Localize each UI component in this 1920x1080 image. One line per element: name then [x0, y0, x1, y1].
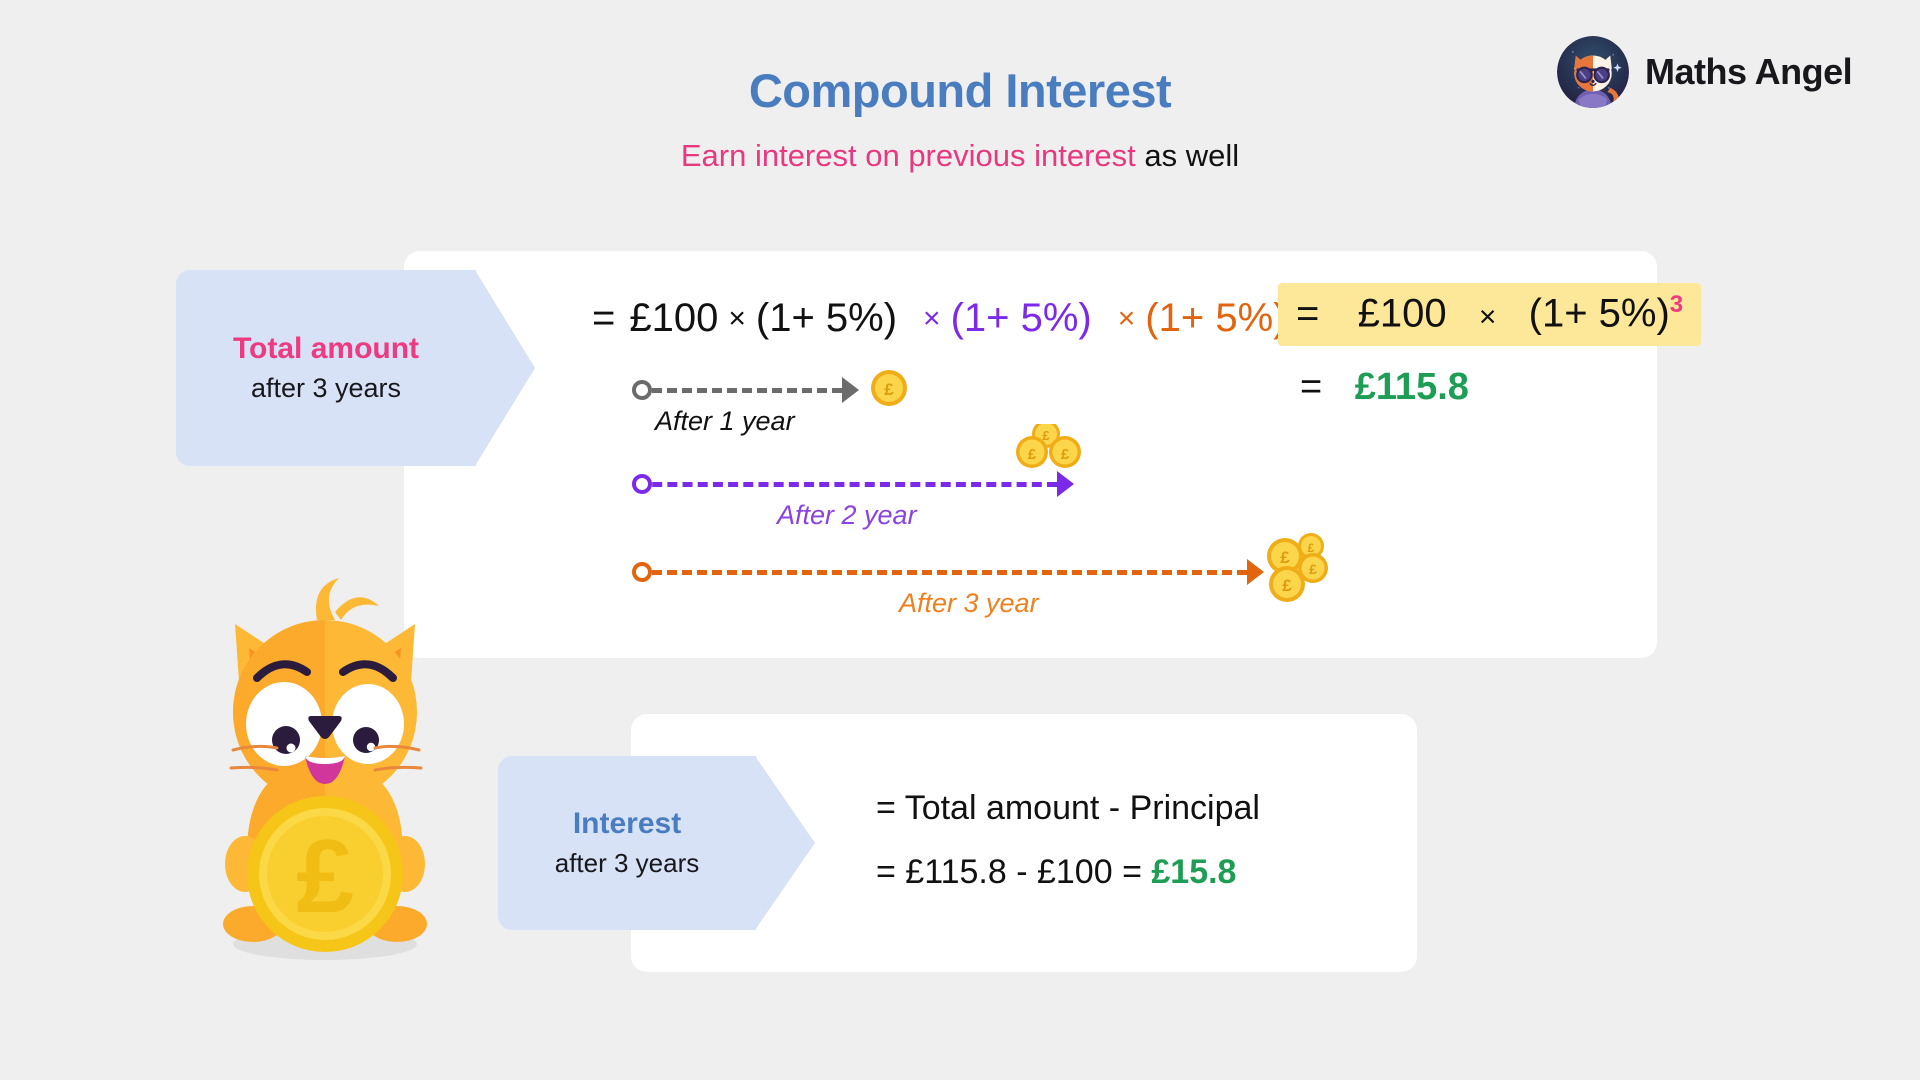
total-amount-banner-subtitle: after 3 years — [251, 373, 401, 404]
svg-text:£: £ — [1280, 548, 1290, 567]
total-result-value: £115.8 — [1355, 366, 1469, 408]
equation-times-1: × — [728, 302, 746, 336]
power-equation-principal: £100 — [1358, 291, 1447, 335]
equation-factor-3: (1+ 5%) — [1145, 296, 1286, 341]
svg-text:£: £ — [1309, 561, 1317, 577]
svg-text:£: £ — [1028, 446, 1037, 463]
compound-interest-expanded-equation: = £100 × (1+ 5%) × (1+ 5%) × (1+ 5%) — [592, 296, 1286, 341]
svg-text:£: £ — [884, 380, 894, 399]
interest-banner-title: Interest — [573, 807, 681, 840]
total-amount-result: = £115.8 — [1300, 366, 1469, 409]
timeline-3-coins: £ £ £ £ — [1259, 532, 1335, 613]
power-equation-exponent: 3 — [1670, 291, 1683, 318]
page-subtitle: Earn interest on previous interest as we… — [0, 138, 1920, 174]
svg-text:£: £ — [296, 819, 354, 935]
power-equation-factor: (1+ 5%) — [1529, 291, 1670, 335]
timeline-2-line — [637, 482, 1057, 487]
equation-factor-1: (1+ 5%) — [756, 296, 897, 341]
timeline-3-label: After 3 year — [899, 588, 1039, 619]
equation-times-3: × — [1118, 302, 1136, 336]
total-amount-banner-title: Total amount — [233, 332, 419, 365]
power-equation-times: × — [1479, 300, 1497, 333]
page-title: Compound Interest — [0, 63, 1920, 118]
svg-text:£: £ — [1042, 428, 1050, 443]
timeline-1-start-dot — [632, 380, 652, 400]
timeline-1-coins: £ — [867, 366, 911, 415]
timeline-1-line — [637, 388, 842, 393]
interest-calculation-prefix: = £115.8 - £100 = — [876, 853, 1151, 891]
interest-banner: Interest after 3 years — [498, 756, 756, 930]
equation-equals: = — [592, 296, 615, 341]
orange-cat-with-pound-coin-icon: £ — [205, 572, 445, 972]
timeline-2-coins: £ £ £ — [1015, 424, 1095, 491]
timeline-3-start-dot — [632, 562, 652, 582]
timeline-1-arrowhead — [842, 377, 859, 403]
compound-interest-power-equation-highlighted: = £100 × (1+ 5%)3 — [1278, 283, 1701, 346]
timeline-2-label: After 2 year — [777, 500, 917, 531]
total-result-equals: = — [1300, 366, 1322, 408]
interest-result-value: £15.8 — [1151, 853, 1236, 891]
interest-formula-line: = Total amount - Principal — [876, 789, 1260, 828]
interest-banner-subtitle: after 3 years — [555, 848, 700, 879]
timeline-1-label: After 1 year — [655, 406, 795, 437]
svg-text:£: £ — [1308, 541, 1315, 555]
svg-text:£: £ — [1061, 446, 1070, 463]
subtitle-rest: as well — [1136, 138, 1239, 173]
total-amount-banner: Total amount after 3 years — [176, 270, 476, 466]
power-equation-equals: = — [1296, 291, 1319, 335]
timeline-3-line — [637, 570, 1247, 575]
timeline-2-start-dot — [632, 474, 652, 494]
svg-text:£: £ — [1282, 576, 1292, 595]
interest-calculation-line: = £115.8 - £100 = £15.8 — [876, 853, 1236, 892]
equation-principal: £100 — [629, 296, 718, 341]
equation-times-2: × — [923, 302, 941, 336]
equation-factor-2: (1+ 5%) — [951, 296, 1092, 341]
subtitle-highlight: Earn interest on previous interest — [681, 138, 1136, 173]
